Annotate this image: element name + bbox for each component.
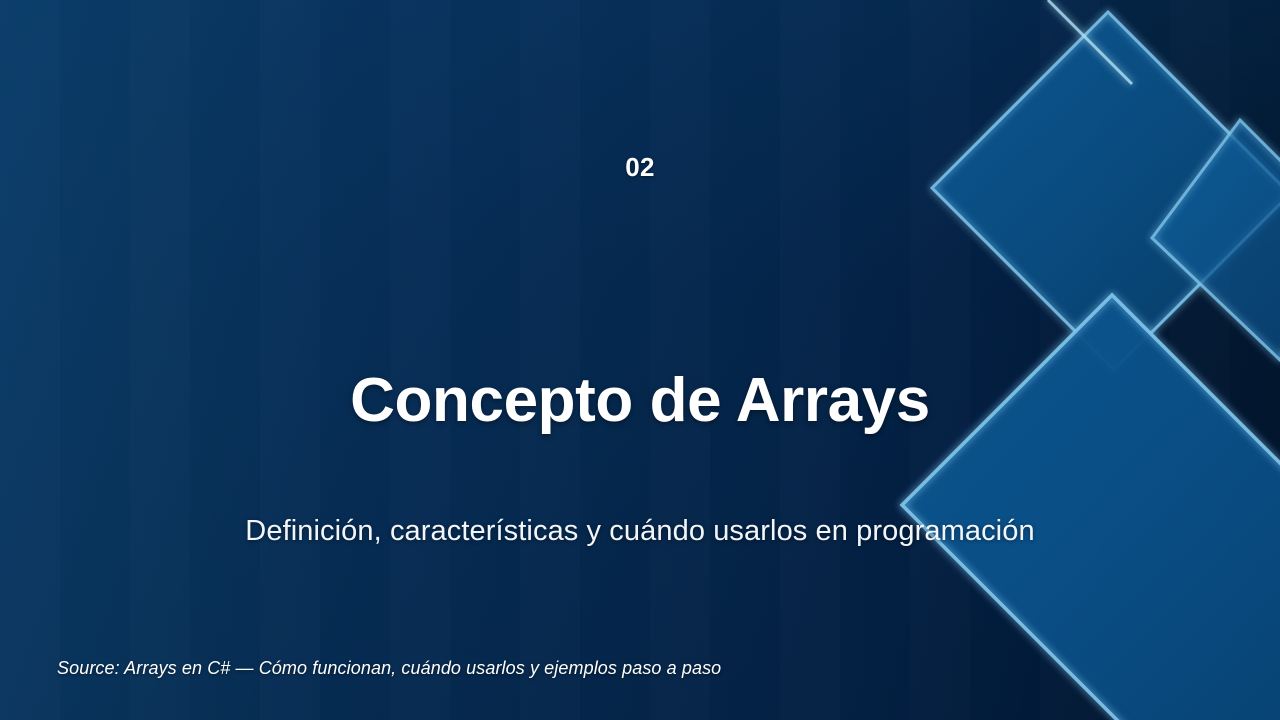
slide-subtitle: Definición, características y cuándo usa… [0, 515, 1280, 548]
source-note: Source: Arrays en C# — Cómo funcionan, c… [57, 658, 721, 679]
page-title: Concepto de Arrays [0, 367, 1280, 435]
slide-content: 02 Concepto de Arrays Definición, caract… [0, 0, 1280, 720]
presentation-slide: 02 Concepto de Arrays Definición, caract… [0, 0, 1280, 720]
section-number: 02 [0, 152, 1280, 183]
